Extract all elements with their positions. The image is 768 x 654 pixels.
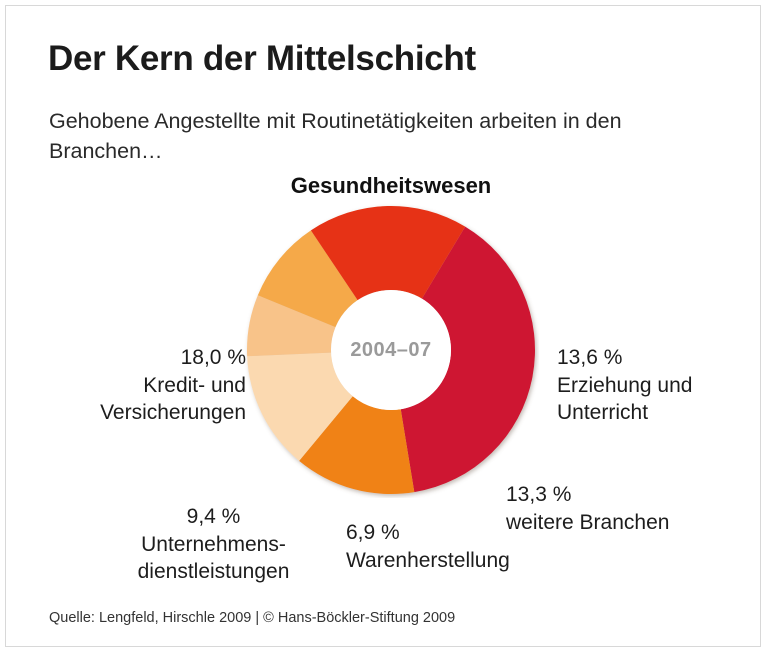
- callout-value: 6,9 %: [346, 519, 576, 547]
- callout-label-line1: Erziehung und: [557, 372, 757, 400]
- callout-label-line1: Kredit- und: [46, 372, 246, 400]
- source-note: Quelle: Lengfeld, Hirschle 2009 | © Hans…: [49, 610, 455, 626]
- callout-label-line2: Unterricht: [557, 399, 757, 427]
- callout-label-line2: Versicherungen: [46, 399, 246, 427]
- callout-value: 18,0 %: [46, 344, 246, 372]
- callout-value: 9,4 %: [101, 503, 326, 531]
- callout-unternehmensdienstleistungen: 9,4 % Unternehmens- dienstleistungen: [101, 503, 326, 586]
- callout-erziehung-und-unterricht: 13,6 % Erziehung und Unterricht: [557, 344, 757, 427]
- donut-graphic: 2004–07: [243, 202, 539, 498]
- callout-kredit-und-versicherungen: 18,0 % Kredit- und Versicherungen: [46, 344, 246, 427]
- chart-title: Gesundheitswesen: [291, 173, 492, 199]
- callout-label-line1: Warenherstellung: [346, 547, 576, 575]
- callout-label-line1: Unternehmens-: [101, 531, 326, 559]
- callout-label-line2: dienstleistungen: [101, 558, 326, 586]
- callout-value: 13,6 %: [557, 344, 757, 372]
- callout-value: 13,3 %: [506, 481, 736, 509]
- donut-hole: [331, 290, 451, 410]
- callout-warenherstellung: 6,9 % Warenherstellung: [346, 519, 576, 574]
- infographic-card: Der Kern der Mittelschicht Gehobene Ange…: [5, 5, 761, 647]
- donut-svg: [243, 202, 539, 498]
- donut-chart: Gesundheitswesen 2004–07 18,0 % Kredit- …: [6, 6, 762, 648]
